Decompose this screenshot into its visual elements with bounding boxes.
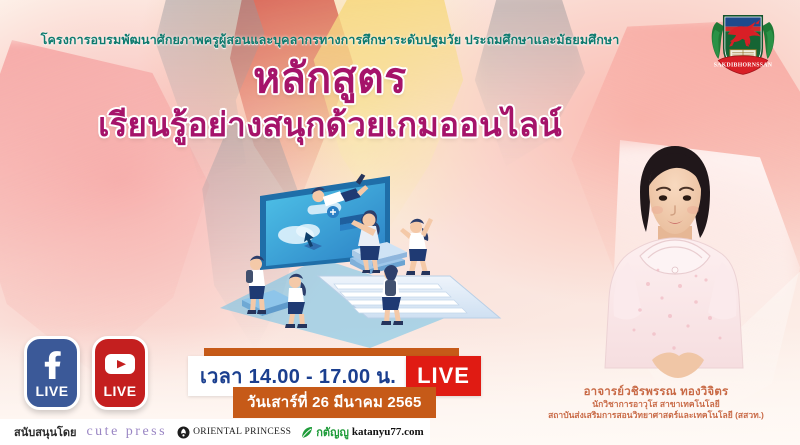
youtube-live-badge[interactable]: LIVE <box>92 336 148 410</box>
speaker-organization: สถาบันส่งเสริมการสอนวิทยาศาสตร์และเทคโนโ… <box>516 410 796 421</box>
online-learning-illustration <box>200 158 530 348</box>
course-title-main: หลักสูตร <box>0 58 660 99</box>
course-title-sub: เรียนรู้อย่างสนุกด้วยเกมออนไลน์ <box>0 108 660 143</box>
program-header-text: โครงการอบรมพัฒนาศักยภาพครูผู้สอนและบุคลา… <box>0 30 660 50</box>
facebook-icon <box>41 347 63 381</box>
sponsor-bar: สนับสนุนโดย cute press ORIENTAL PRINCESS… <box>0 419 430 445</box>
svg-text:SAKDIBHORNSSAN: SAKDIBHORNSSAN <box>714 63 773 69</box>
date-panel: วันเสาร์ที่ 26 มีนาคม 2565 <box>233 387 436 418</box>
speaker-portrait-photo <box>570 134 780 399</box>
date-text: วันเสาร์ที่ 26 มีนาคม 2565 <box>247 394 422 411</box>
oriental-princess-text: ORIENTAL PRINCESS <box>193 427 291 437</box>
speaker-name: อาจารย์วชิรพรรณ ทองวิจิตร <box>516 385 796 400</box>
schedule-block: เวลา 14.00 - 17.00 น. LIVE วันเสาร์ที่ 2… <box>188 348 503 404</box>
youtube-icon <box>104 347 136 381</box>
schedule-top-accent-bar <box>204 348 459 356</box>
facebook-live-badge[interactable]: LIVE <box>24 336 80 410</box>
oriental-princess-seal-icon <box>177 426 190 439</box>
sponsor-cute-press-logo: cute press <box>86 424 167 440</box>
katanyu-thai-text: กตัญญู <box>316 423 349 441</box>
youtube-live-label: LIVE <box>103 383 136 399</box>
poster-canvas: โครงการอบรมพัฒนาศักยภาพครูผู้สอนและบุคลา… <box>0 0 800 445</box>
sponsor-katanyu-logo: กตัญญู katanyu77.com <box>301 423 423 441</box>
sponsor-prefix-label: สนับสนุนโดย <box>14 423 76 441</box>
school-crest-logo: SAKDIBHORNSSAN <box>704 5 782 79</box>
leaf-icon <box>301 426 313 439</box>
facebook-live-label: LIVE <box>35 383 68 399</box>
speaker-caption: อาจารย์วชิรพรรณ ทองวิจิตร นักวิชาการอาวุ… <box>516 385 796 421</box>
speaker-role: นักวิชาการอาวุโส สาขาเทคโนโลยี <box>516 399 796 410</box>
katanyu-domain-text: katanyu77.com <box>352 426 424 438</box>
live-platform-badges: LIVE LIVE <box>24 336 148 410</box>
sponsor-oriental-princess-logo: ORIENTAL PRINCESS <box>177 426 291 439</box>
